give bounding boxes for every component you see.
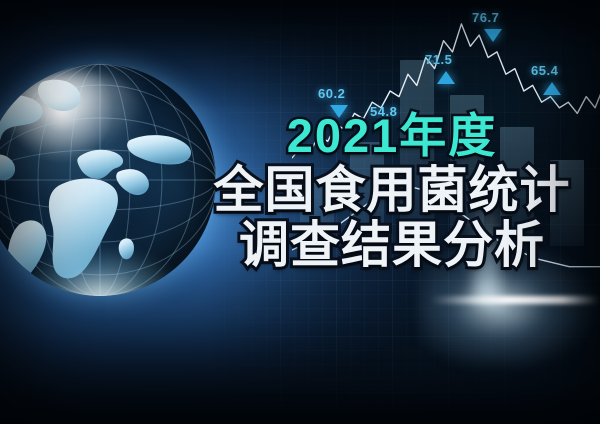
- chart-annotation-label: 60.2: [318, 86, 345, 101]
- up-triangle-icon: [543, 82, 561, 95]
- chart-annotation-label: 71.5: [425, 52, 452, 67]
- title-line-subject: 全国食用菌统计: [192, 165, 592, 215]
- up-triangle-icon: [437, 71, 455, 84]
- title-line-year: 2021年度: [192, 112, 592, 159]
- title-line-analysis: 调查结果分析: [192, 220, 592, 270]
- poster-title: 2021年度 全国食用菌统计 调查结果分析: [192, 112, 592, 270]
- down-triangle-icon: [484, 29, 502, 42]
- globe-highlight: [3, 73, 147, 152]
- globe-icon: [0, 64, 216, 296]
- chart-annotation-label: 76.7: [472, 10, 499, 25]
- chart-annotation-label: 65.4: [531, 63, 558, 78]
- banner-poster: 60.254.871.576.765.4: [0, 0, 600, 424]
- globe-bottom-glow: [21, 250, 179, 296]
- light-streak: [430, 296, 600, 304]
